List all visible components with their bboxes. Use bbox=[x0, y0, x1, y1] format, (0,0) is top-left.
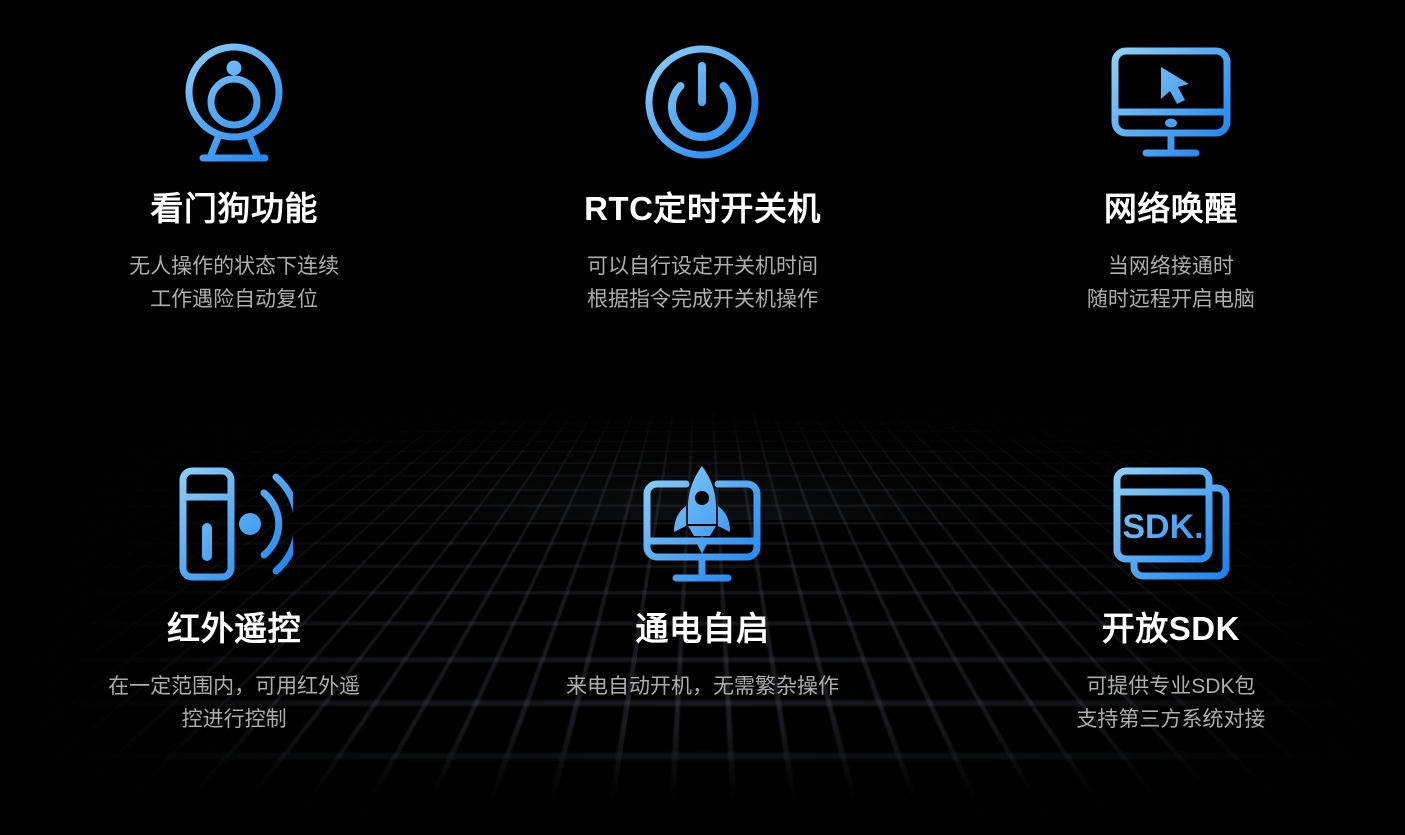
sdk-windows-icon: SDK. bbox=[1109, 462, 1233, 586]
desc-line: 无人操作的状态下连续 bbox=[129, 250, 339, 283]
feature-description: 可提供专业SDK包 支持第三方系统对接 bbox=[1076, 670, 1265, 736]
feature-description: 来电自动开机，无需繁杂操作 bbox=[566, 670, 839, 703]
feature-grid: 看门狗功能 无人操作的状态下连续 工作遇险自动复位 RTC定时开关机 可 bbox=[0, 0, 1405, 835]
feature-title: 开放SDK bbox=[1102, 610, 1240, 648]
desc-line: 根据指令完成开关机操作 bbox=[587, 283, 818, 316]
desc-line: 当网络接通时 bbox=[1087, 250, 1255, 283]
feature-description: 可以自行设定开关机时间 根据指令完成开关机操作 bbox=[587, 250, 818, 316]
desc-line: 来电自动开机，无需繁杂操作 bbox=[566, 670, 839, 703]
feature-title: 网络唤醒 bbox=[1104, 190, 1238, 228]
feature-card-watchdog: 看门狗功能 无人操作的状态下连续 工作遇险自动复位 bbox=[0, 0, 468, 422]
feature-card-open-sdk: SDK. 开放SDK 可提供专业SDK包 支持第三方系统对接 bbox=[937, 422, 1405, 835]
feature-card-wake-on-lan: 网络唤醒 当网络接通时 随时远程开启电脑 bbox=[937, 0, 1405, 422]
feature-description: 无人操作的状态下连续 工作遇险自动复位 bbox=[129, 250, 339, 316]
monitor-rocket-icon bbox=[640, 462, 764, 586]
feature-title: 通电自启 bbox=[635, 610, 769, 648]
feature-title: 红外遥控 bbox=[167, 610, 301, 648]
desc-line: 随时远程开启电脑 bbox=[1087, 283, 1255, 316]
desc-line: 工作遇险自动复位 bbox=[129, 283, 339, 316]
desc-line: 可以自行设定开关机时间 bbox=[587, 250, 818, 283]
remote-control-signal-icon bbox=[172, 462, 296, 586]
desc-line: 在一定范围内，可用红外遥 bbox=[108, 670, 360, 703]
webcam-icon bbox=[172, 40, 296, 164]
feature-card-auto-power-on: 通电自启 来电自动开机，无需繁杂操作 bbox=[468, 422, 936, 835]
desc-line: 可提供专业SDK包 bbox=[1076, 670, 1265, 703]
feature-description: 在一定范围内，可用红外遥 控进行控制 bbox=[108, 670, 360, 736]
desc-line: 支持第三方系统对接 bbox=[1076, 703, 1265, 736]
desc-line: 控进行控制 bbox=[108, 703, 360, 736]
sdk-label: SDK. bbox=[1122, 508, 1203, 546]
monitor-cursor-icon bbox=[1109, 40, 1233, 164]
feature-title: 看门狗功能 bbox=[150, 190, 318, 228]
feature-card-rtc-timer: RTC定时开关机 可以自行设定开关机时间 根据指令完成开关机操作 bbox=[468, 0, 936, 422]
feature-title: RTC定时开关机 bbox=[584, 190, 821, 228]
feature-card-infrared-remote: 红外遥控 在一定范围内，可用红外遥 控进行控制 bbox=[0, 422, 468, 835]
power-button-icon bbox=[640, 40, 764, 164]
feature-description: 当网络接通时 随时远程开启电脑 bbox=[1087, 250, 1255, 316]
